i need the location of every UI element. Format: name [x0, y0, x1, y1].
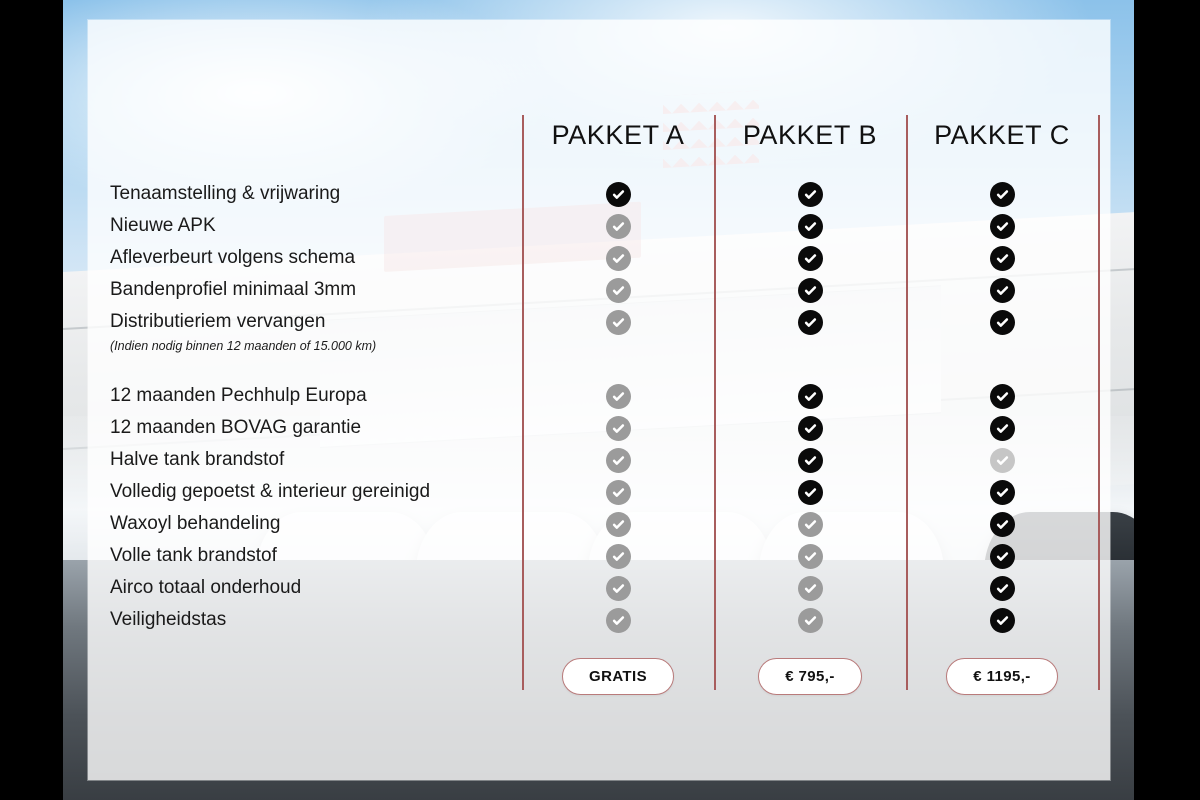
check-cell	[714, 572, 906, 604]
check-circle-icon	[606, 416, 631, 441]
check-circle-icon	[606, 576, 631, 601]
price-pill-pakket-c[interactable]: € 1195,-	[946, 658, 1057, 695]
check-circle-icon	[990, 608, 1015, 633]
column-divider	[1098, 115, 1100, 690]
check-column-pakket-b	[714, 178, 906, 636]
feature-label: Nieuwe APK	[110, 210, 510, 242]
check-circle-icon	[990, 576, 1015, 601]
check-cell	[714, 508, 906, 540]
feature-label: Halve tank brandstof	[110, 444, 510, 476]
check-cell	[906, 306, 1098, 338]
check-cell	[714, 210, 906, 242]
check-circle-icon	[990, 310, 1015, 335]
check-circle-icon	[798, 246, 823, 271]
check-cell	[522, 274, 714, 306]
check-cell	[906, 540, 1098, 572]
check-cell	[906, 412, 1098, 444]
check-cell	[906, 476, 1098, 508]
check-cell	[522, 604, 714, 636]
check-cell	[522, 178, 714, 210]
feature-label: Waxoyl behandeling	[110, 508, 510, 540]
check-circle-icon	[606, 278, 631, 303]
price-pill-pakket-a[interactable]: GRATIS	[562, 658, 674, 695]
check-circle-icon	[990, 448, 1015, 473]
check-circle-icon	[798, 480, 823, 505]
check-cell	[522, 508, 714, 540]
check-circle-icon	[990, 278, 1015, 303]
check-circle-icon	[606, 544, 631, 569]
feature-label: Distributieriem vervangen	[110, 306, 510, 338]
feature-label: Bandenprofiel minimaal 3mm	[110, 274, 510, 306]
check-circle-icon	[606, 310, 631, 335]
check-circle-icon	[990, 182, 1015, 207]
column-header-pakket-b: PAKKET B	[714, 120, 906, 151]
note-spacer	[522, 338, 714, 358]
check-cell	[522, 540, 714, 572]
check-circle-icon	[798, 416, 823, 441]
check-circle-icon	[606, 608, 631, 633]
check-circle-icon	[798, 512, 823, 537]
group-spacer	[906, 358, 1098, 380]
check-cell	[522, 306, 714, 338]
check-cell	[906, 242, 1098, 274]
column-header-pakket-c: PAKKET C	[906, 120, 1098, 151]
check-circle-icon	[606, 512, 631, 537]
check-cell	[906, 210, 1098, 242]
check-cell	[906, 380, 1098, 412]
check-cell	[714, 380, 906, 412]
feature-label: Afleverbeurt volgens schema	[110, 242, 510, 274]
check-cell	[906, 508, 1098, 540]
check-circle-icon	[606, 246, 631, 271]
note-spacer	[714, 338, 906, 358]
check-column-pakket-a	[522, 178, 714, 636]
check-circle-icon	[606, 214, 631, 239]
group-spacer	[714, 358, 906, 380]
check-cell	[714, 242, 906, 274]
check-cell	[522, 476, 714, 508]
check-cell	[522, 210, 714, 242]
feature-note: (Indien nodig binnen 12 maanden of 15.00…	[110, 338, 510, 358]
check-cell	[522, 572, 714, 604]
check-circle-icon	[990, 480, 1015, 505]
group-spacer	[522, 358, 714, 380]
group-separator	[110, 358, 510, 380]
screenshot-stage: PAKKET A PAKKET B PAKKET C Tenaamstellin…	[0, 0, 1200, 800]
check-circle-icon	[798, 182, 823, 207]
check-cell	[906, 178, 1098, 210]
check-circle-icon	[798, 448, 823, 473]
check-circle-icon	[990, 246, 1015, 271]
check-circle-icon	[990, 512, 1015, 537]
check-cell	[714, 540, 906, 572]
check-cell	[522, 444, 714, 476]
feature-label: Veiligheidstas	[110, 604, 510, 636]
feature-label: Volle tank brandstof	[110, 540, 510, 572]
feature-label: Volledig gepoetst & interieur gereinigd	[110, 476, 510, 508]
price-row-pakket-a: GRATIS	[522, 658, 714, 695]
check-cell	[906, 604, 1098, 636]
check-cell	[522, 242, 714, 274]
check-cell	[906, 444, 1098, 476]
check-column-pakket-c	[906, 178, 1098, 636]
check-circle-icon	[798, 608, 823, 633]
feature-label: 12 maanden Pechhulp Europa	[110, 380, 510, 412]
check-circle-icon	[798, 576, 823, 601]
feature-label: Airco totaal onderhoud	[110, 572, 510, 604]
price-row-pakket-c: € 1195,-	[906, 658, 1098, 695]
check-cell	[714, 604, 906, 636]
feature-label: 12 maanden BOVAG garantie	[110, 412, 510, 444]
check-cell	[714, 476, 906, 508]
check-circle-icon	[798, 214, 823, 239]
check-cell	[906, 274, 1098, 306]
check-cell	[522, 412, 714, 444]
check-circle-icon	[990, 544, 1015, 569]
check-cell	[714, 178, 906, 210]
check-circle-icon	[606, 448, 631, 473]
package-comparison-table: PAKKET A PAKKET B PAKKET C Tenaamstellin…	[88, 20, 1110, 780]
check-circle-icon	[990, 214, 1015, 239]
check-cell	[906, 572, 1098, 604]
check-circle-icon	[990, 416, 1015, 441]
check-cell	[714, 306, 906, 338]
check-circle-icon	[606, 384, 631, 409]
column-header-pakket-a: PAKKET A	[522, 120, 714, 151]
feature-label: Tenaamstelling & vrijwaring	[110, 178, 510, 210]
check-circle-icon	[798, 278, 823, 303]
check-circle-icon	[990, 384, 1015, 409]
price-pill-pakket-b[interactable]: € 795,-	[758, 658, 862, 695]
comparison-card: PAKKET A PAKKET B PAKKET C Tenaamstellin…	[88, 20, 1110, 780]
check-circle-icon	[606, 182, 631, 207]
check-circle-icon	[798, 384, 823, 409]
note-spacer	[906, 338, 1098, 358]
check-circle-icon	[798, 544, 823, 569]
check-circle-icon	[798, 310, 823, 335]
price-row-pakket-b: € 795,-	[714, 658, 906, 695]
check-cell	[714, 412, 906, 444]
check-cell	[714, 444, 906, 476]
check-cell	[714, 274, 906, 306]
check-cell	[522, 380, 714, 412]
feature-label-column: Tenaamstelling & vrijwaring Nieuwe APK A…	[110, 178, 510, 636]
check-circle-icon	[606, 480, 631, 505]
